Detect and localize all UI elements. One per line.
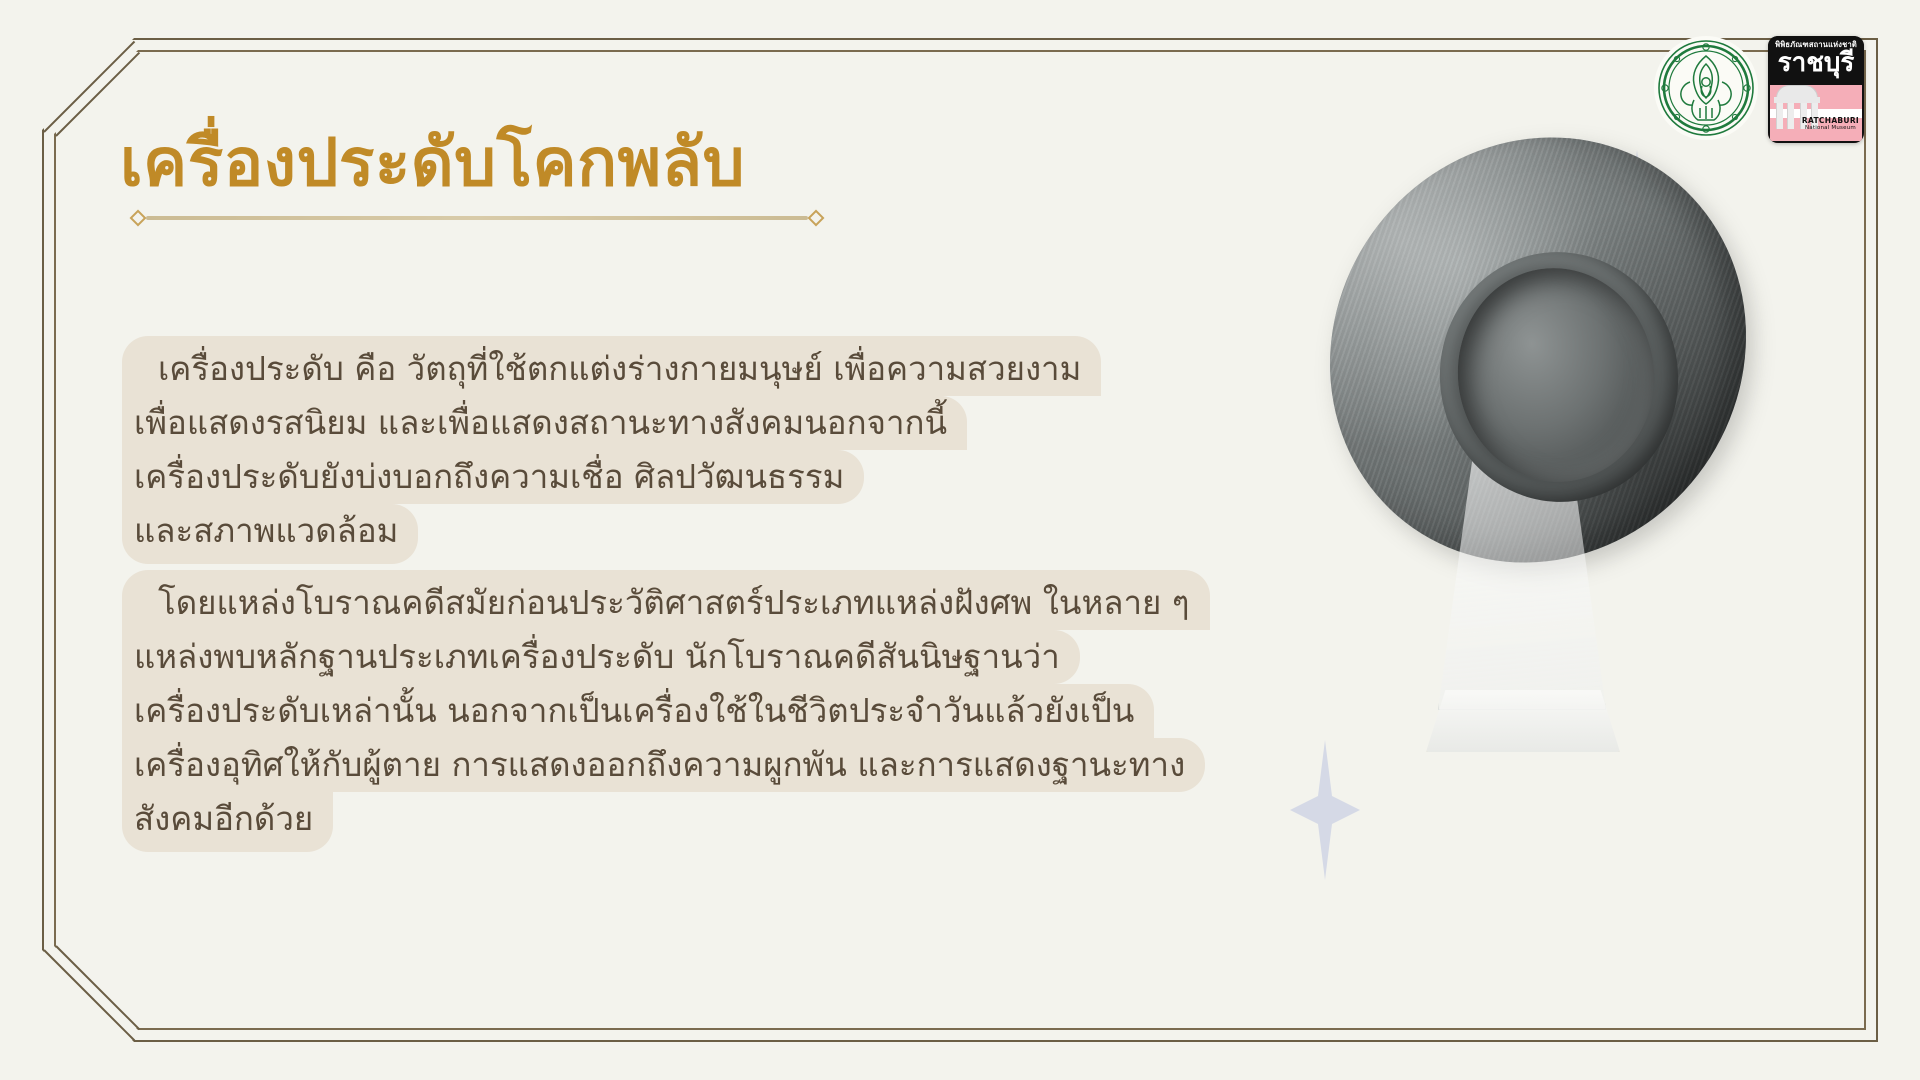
body-line: สังคมอีกด้วย bbox=[122, 792, 333, 852]
gate-column bbox=[1787, 103, 1794, 129]
title-divider bbox=[132, 211, 822, 225]
title-divider-bar bbox=[146, 216, 808, 220]
logo-group: พิพิธภัณฑสถานแห่งชาติ ราชบุรี RATCHABURI… bbox=[1654, 36, 1864, 143]
body-line: เครื่องประดับเหล่านั้น นอกจากเป็นเครื่อง… bbox=[122, 684, 1154, 738]
badge-english-name: RATCHABURI National Museum bbox=[1802, 116, 1859, 131]
body-line: เครื่องประดับยังบ่งบอกถึงความเชื่อ ศิลปว… bbox=[122, 450, 864, 504]
slide-root: เครื่องประดับโคกพลับ เครื่องประดับ คือ ว… bbox=[0, 0, 1920, 1080]
diamond-ornament-icon-right bbox=[808, 210, 825, 227]
ratchaburi-national-museum-badge: พิพิธภัณฑสถานแห่งชาติ ราชบุรี RATCHABURI… bbox=[1768, 36, 1864, 143]
badge-english-line1: RATCHABURI bbox=[1802, 116, 1859, 125]
frame-bevel-bottom-left-outer bbox=[43, 949, 135, 1041]
fine-arts-department-ganesha-seal-icon bbox=[1654, 36, 1758, 140]
frame-bevel-top-left-outer bbox=[43, 41, 135, 133]
badge-english-line2: National Museum bbox=[1802, 125, 1859, 131]
diamond-ornament-icon-left bbox=[130, 210, 147, 227]
body-line: เพื่อแสดงรสนิยม และเพื่อแสดงสถานะทางสังค… bbox=[122, 396, 967, 450]
body-line: และสภาพแวดล้อม bbox=[122, 504, 418, 564]
gate-column bbox=[1776, 103, 1783, 129]
frame-corner-mask-bottom-left bbox=[30, 944, 140, 1054]
badge-bottom: RATCHABURI National Museum bbox=[1768, 85, 1864, 143]
paragraph-1: เครื่องประดับ คือ วัตถุที่ใช้ตกแต่งร่างก… bbox=[122, 336, 1182, 564]
body-line: เครื่องประดับ คือ วัตถุที่ใช้ตกแต่งร่างก… bbox=[122, 336, 1101, 396]
paragraph-2: โดยแหล่งโบราณคดีสมัยก่อนประวัติศาสตร์ประ… bbox=[122, 570, 1182, 852]
body-line: โดยแหล่งโบราณคดีสมัยก่อนประวัติศาสตร์ประ… bbox=[122, 570, 1210, 630]
frame-corner-mask-top-left bbox=[30, 26, 140, 136]
stand-base bbox=[1426, 690, 1620, 752]
title-block: เครื่องประดับโคกพลับ bbox=[120, 128, 960, 225]
body-line: แหล่งพบหลักฐานประเภทเครื่องประดับ นักโบร… bbox=[122, 630, 1080, 684]
badge-thai-title: ราชบุรี bbox=[1772, 50, 1860, 77]
body-text-panel: เครื่องประดับ คือ วัตถุที่ใช้ตกแต่งร่างก… bbox=[122, 336, 1182, 858]
stone-ring-artifact-photo bbox=[1300, 140, 1770, 840]
frame-bevel-bottom-left-inner bbox=[55, 945, 140, 1030]
body-line: เครื่องอุทิศให้กับผู้ตาย การแสดงออกถึงคว… bbox=[122, 738, 1205, 792]
badge-top: พิพิธภัณฑสถานแห่งชาติ ราชบุรี bbox=[1768, 36, 1864, 85]
page-title: เครื่องประดับโคกพลับ bbox=[120, 128, 960, 197]
